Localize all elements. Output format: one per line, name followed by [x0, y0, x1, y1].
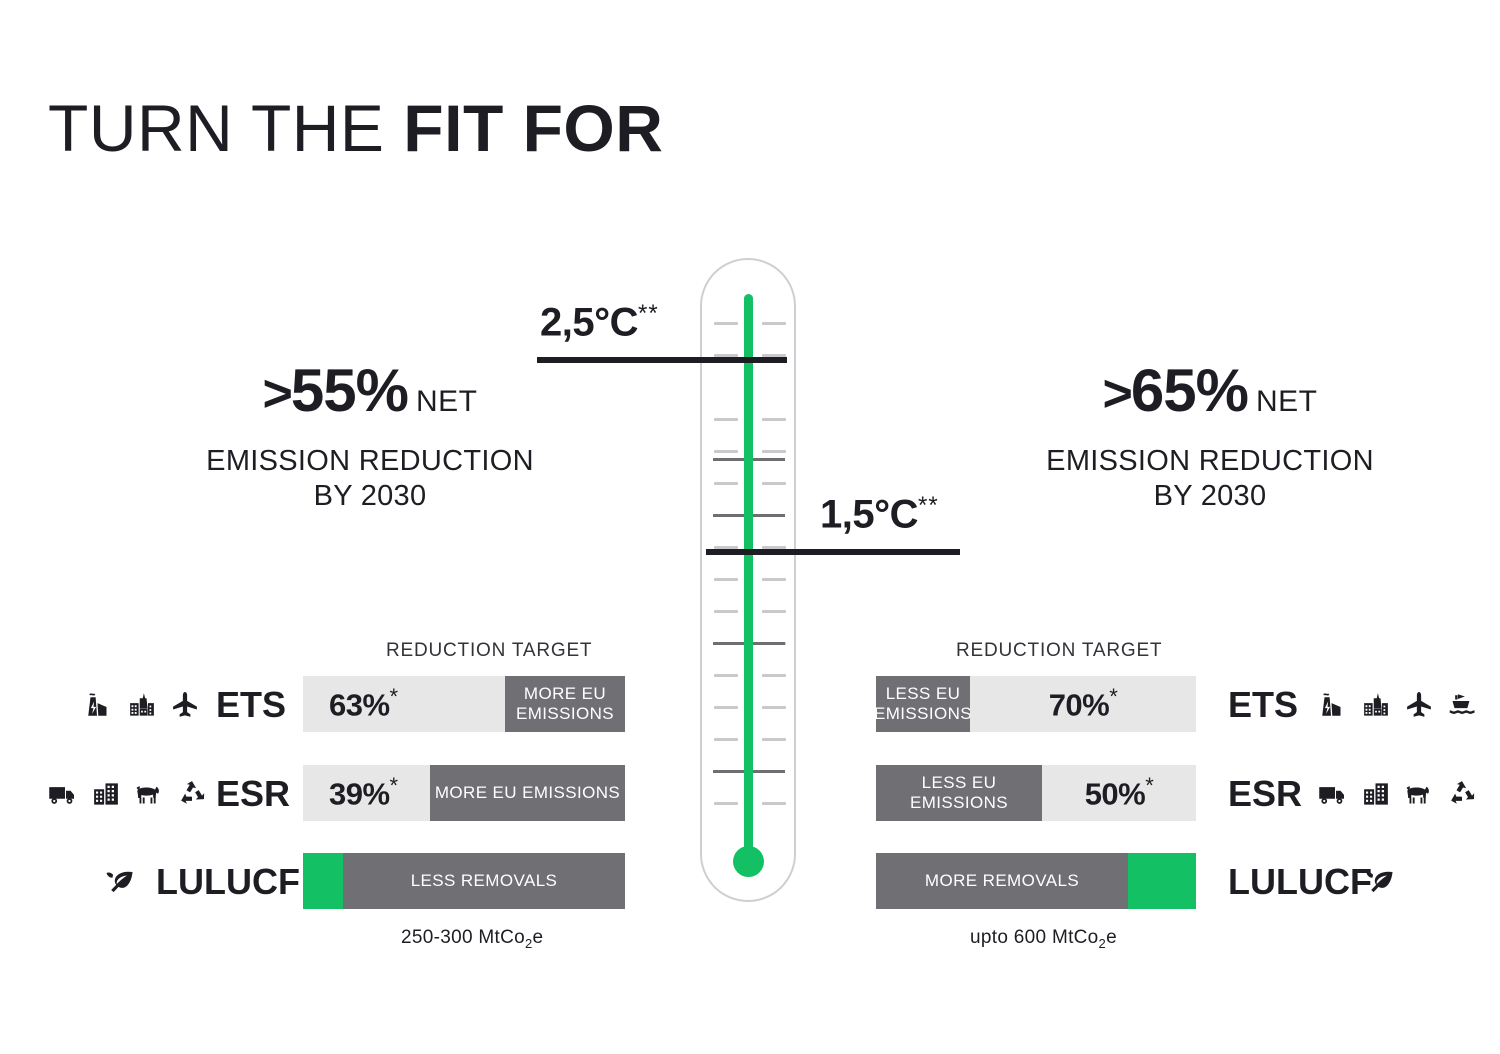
left-section: REDUCTION TARGET [0, 0, 700, 1054]
right-caption-sub: 2 [1099, 936, 1107, 951]
thermometer-tick [714, 578, 738, 581]
thermometer-tick [762, 482, 786, 485]
thermometer [700, 258, 800, 906]
thermometer-tick [714, 450, 738, 453]
factory-icon [1361, 690, 1391, 720]
right-esr-bar: LESS EU EMISSIONS 50%* [876, 765, 1196, 821]
left-caption-suffix: e [533, 927, 544, 948]
left-row-ets: ETS 63%* MORE EU EMISSIONS [0, 676, 700, 732]
left-lulucf-bar-note-segment: LESS REMOVALS [343, 853, 625, 909]
power-plant-icon [1318, 690, 1348, 720]
left-section-title: REDUCTION TARGET [386, 640, 592, 662]
leaf-icon [104, 866, 136, 898]
thermometer-tick [714, 706, 738, 709]
right-ets-bar-value-segment: 70%* [970, 676, 1196, 732]
truck-icon [48, 779, 78, 809]
right-lulucf-bar: MORE REMOVALS [876, 853, 1196, 909]
left-lulucf-bar: LESS REMOVALS [303, 853, 625, 909]
cow-icon [1404, 779, 1434, 809]
thermometer-bulb [733, 846, 764, 877]
right-esr-bar-note-segment: LESS EU EMISSIONS [876, 765, 1042, 821]
power-plant-icon [84, 690, 114, 720]
thermometer-tick [714, 610, 738, 613]
recycling-icon [1447, 779, 1477, 809]
infographic-card: TURN THE FIT FOR >55%NET EMISSION REDUCT… [0, 0, 1500, 1054]
left-ets-bar-value-segment: 63%* [303, 676, 505, 732]
left-esr-value: 39%* [329, 773, 398, 812]
right-lulucf-bar-note-segment: MORE REMOVALS [876, 853, 1128, 909]
thermometer-tick [762, 802, 786, 805]
right-lulucf-caption: upto 600 MtCo2e [970, 927, 1117, 951]
left-lulucf-note: LESS REMOVALS [411, 871, 558, 891]
thermometer-tick [762, 738, 786, 741]
right-section-title: REDUCTION TARGET [956, 640, 1162, 662]
left-esr-bar-note-segment: MORE EU EMISSIONS [430, 765, 625, 821]
left-lulucf-label: LULUCF [156, 861, 300, 903]
left-row-lulucf: LULUCF LESS REMOVALS [0, 853, 700, 909]
thermometer-tick [762, 610, 786, 613]
thermometer-tick [714, 418, 738, 421]
airplane-icon [170, 690, 200, 720]
left-esr-label: ESR [216, 773, 290, 815]
thermometer-tick [714, 738, 738, 741]
left-lulucf-bar-green-segment [303, 853, 343, 909]
right-ets-note: LESS EU EMISSIONS [876, 684, 972, 724]
leaf-icon [1364, 866, 1396, 898]
right-lulucf-icons [1364, 863, 1396, 901]
right-lulucf-label: LULUCF [1228, 861, 1372, 903]
left-ets-icons [84, 686, 200, 724]
right-ets-bar-note-segment: LESS EU EMISSIONS [876, 676, 970, 732]
left-esr-bar-value-segment: 39%* [303, 765, 430, 821]
left-ets-note: MORE EU EMISSIONS [516, 684, 614, 724]
right-row-lulucf: MORE REMOVALS LULUCF [800, 853, 1500, 909]
thermometer-tick [714, 482, 738, 485]
building-icon [1361, 779, 1391, 809]
right-caption-suffix: e [1106, 927, 1117, 948]
left-ets-bar: 63%* MORE EU EMISSIONS [303, 676, 625, 732]
factory-icon [127, 690, 157, 720]
thermometer-tick [762, 706, 786, 709]
left-ets-label: ETS [216, 684, 286, 726]
right-ets-value: 70%* [1049, 684, 1118, 723]
left-ets-value: 63%* [329, 684, 398, 723]
right-esr-value: 50%* [1085, 773, 1154, 812]
thermometer-tick [762, 418, 786, 421]
thermometer-tick [714, 802, 738, 805]
truck-icon [1318, 779, 1348, 809]
left-ets-bar-note-segment: MORE EU EMISSIONS [505, 676, 625, 732]
left-lulucf-caption: 250-300 MtCo2e [401, 927, 543, 951]
left-caption-sub: 2 [525, 936, 533, 951]
left-esr-bar: 39%* MORE EU EMISSIONS [303, 765, 625, 821]
right-lulucf-bar-green-segment [1128, 853, 1196, 909]
right-ets-bar: LESS EU EMISSIONS 70%* [876, 676, 1196, 732]
left-lulucf-icons [104, 863, 136, 901]
right-esr-label: ESR [1228, 773, 1302, 815]
right-esr-bar-value-segment: 50%* [1042, 765, 1196, 821]
right-row-ets: LESS EU EMISSIONS 70%* ETS [800, 676, 1500, 732]
thermometer-tick [762, 450, 786, 453]
right-lulucf-note: MORE REMOVALS [925, 871, 1079, 891]
recycling-icon [177, 779, 207, 809]
left-esr-note: MORE EU EMISSIONS [435, 783, 620, 803]
left-row-esr: ESR 39%* MORE EU EMISSIONS [0, 765, 700, 821]
thermometer-mercury [744, 294, 753, 864]
right-row-esr: LESS EU EMISSIONS 50%* ESR [800, 765, 1500, 821]
thermometer-tick [762, 578, 786, 581]
right-ets-icons [1318, 686, 1477, 724]
right-esr-icons [1318, 775, 1477, 813]
right-caption-prefix: upto 600 MtCo [970, 927, 1099, 948]
airplane-icon [1404, 690, 1434, 720]
thermometer-tick [714, 674, 738, 677]
building-icon [91, 779, 121, 809]
left-caption-prefix: 250-300 MtCo [401, 927, 525, 948]
right-esr-note: LESS EU EMISSIONS [910, 773, 1008, 813]
right-section: REDUCTION TARGET LESS EU EMISSIONS 70%* … [800, 0, 1500, 1054]
right-ets-label: ETS [1228, 684, 1298, 726]
thermometer-tick [714, 322, 738, 325]
thermometer-tick [762, 674, 786, 677]
ship-icon [1447, 690, 1477, 720]
cow-icon [134, 779, 164, 809]
left-esr-icons [48, 775, 207, 813]
thermometer-tick [762, 322, 786, 325]
